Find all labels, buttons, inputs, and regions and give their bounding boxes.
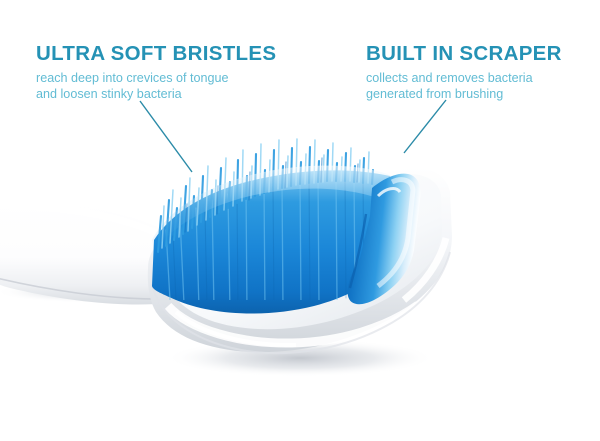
callout-built-in-scraper: BUILT IN SCRAPER collects and removes ba… [366,43,562,103]
callout-ultra-soft-bristles: ULTRA SOFT BRISTLES reach deep into crev… [36,43,276,103]
callout-body-line-2-ultra-soft-bristles: and loosen stinky bacteria [36,86,276,103]
callout-body-line-1-ultra-soft-bristles: reach deep into crevices of tongue [36,70,276,87]
callout-title-built-in-scraper: BUILT IN SCRAPER [366,43,562,65]
callout-body-line-2-built-in-scraper: generated from brushing [366,86,562,103]
callout-title-ultra-soft-bristles: ULTRA SOFT BRISTLES [36,43,276,65]
callout-body-line-1-built-in-scraper: collects and removes bacteria [366,70,562,87]
product-feature-callout-image: ULTRA SOFT BRISTLES reach deep into crev… [0,0,600,441]
